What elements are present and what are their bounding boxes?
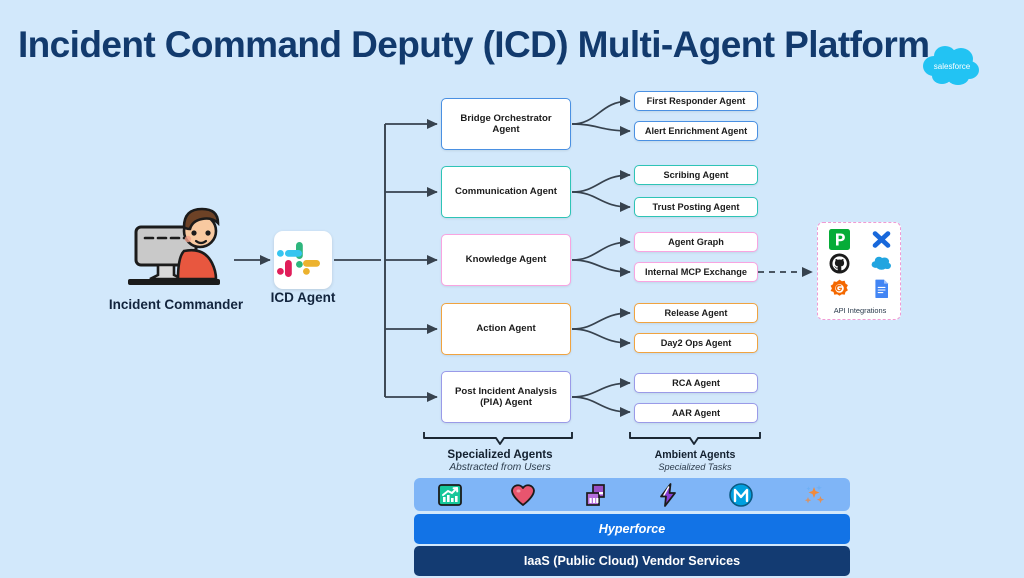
ambient-agent-scribing[interactable]: Scribing Agent [634, 165, 758, 185]
github-icon [829, 253, 850, 274]
layer-label: Hyperforce [599, 522, 666, 536]
node-label: Internal MCP Exchange [645, 267, 747, 278]
ambient-agent-internal-mcp-exchange[interactable]: Internal MCP Exchange [634, 262, 758, 282]
node-label: First Responder Agent [647, 96, 746, 107]
mulesoft-m-icon [728, 482, 754, 508]
jira-icon [871, 229, 892, 250]
chart-trend-icon [437, 482, 463, 508]
ambient-agent-aar[interactable]: AAR Agent [634, 403, 758, 423]
node-label: Alert Enrichment Agent [645, 126, 747, 137]
ambient-agent-trust-posting[interactable]: Trust Posting Agent [634, 197, 758, 217]
google-docs-icon [871, 278, 892, 299]
ambient-agent-rca[interactable]: RCA Agent [634, 373, 758, 393]
node-label: Scribing Agent [664, 170, 729, 181]
ambient-agent-release[interactable]: Release Agent [634, 303, 758, 323]
incident-commander-label: Incident Commander [90, 297, 262, 312]
pagerduty-icon [829, 229, 850, 250]
node-label: Post Incident Analysis (PIA) Agent [447, 386, 565, 409]
node-label: RCA Agent [672, 378, 720, 389]
specialized-agent-action[interactable]: Action Agent [441, 303, 571, 355]
diagram-canvas: Incident Command Deputy (ICD) Multi-Agen… [0, 0, 1024, 578]
node-label: Knowledge Agent [466, 254, 547, 265]
person-at-computer-icon [122, 205, 230, 293]
buildings-icon [583, 482, 609, 508]
node-label: Communication Agent [455, 186, 557, 197]
node-label: Day2 Ops Agent [661, 338, 732, 349]
bracket-title-ambient: Ambient Agents [625, 449, 765, 461]
platform-icon-strip [414, 478, 850, 511]
node-label: Bridge Orchestrator Agent [447, 113, 565, 136]
node-label: Release Agent [665, 308, 728, 319]
specialized-agent-bridge-orchestrator[interactable]: Bridge Orchestrator Agent [441, 98, 571, 150]
specialized-agent-pia[interactable]: Post Incident Analysis (PIA) Agent [441, 371, 571, 423]
node-label: Action Agent [476, 323, 535, 334]
ambient-agent-first-responder[interactable]: First Responder Agent [634, 91, 758, 111]
specialized-agent-communication[interactable]: Communication Agent [441, 166, 571, 218]
heart-icon [510, 482, 536, 508]
api-integrations-box[interactable]: API Integrations [817, 222, 901, 320]
bracket-subtitle-ambient: Specialized Tasks [625, 462, 765, 472]
icd-agent-label: ICD Agent [245, 290, 361, 305]
api-integrations-label: API Integrations [818, 306, 902, 315]
platform-layer-hyperforce: Hyperforce [414, 514, 850, 544]
ambient-agent-day2-ops[interactable]: Day2 Ops Agent [634, 333, 758, 353]
lightning-bolt-icon [655, 482, 681, 508]
slack-logo-icon [274, 231, 332, 289]
bracket-title-specialized: Specialized Agents [420, 448, 580, 461]
ambient-agent-alert-enrichment[interactable]: Alert Enrichment Agent [634, 121, 758, 141]
node-label: Agent Graph [668, 237, 724, 248]
sparkles-icon [801, 482, 827, 508]
layer-label: IaaS (Public Cloud) Vendor Services [524, 554, 740, 568]
node-label: AAR Agent [672, 408, 720, 419]
grafana-icon [829, 278, 850, 299]
bracket-subtitle-specialized: Abstracted from Users [420, 462, 580, 473]
specialized-agent-knowledge[interactable]: Knowledge Agent [441, 234, 571, 286]
platform-layer-iaas: IaaS (Public Cloud) Vendor Services [414, 546, 850, 576]
ambient-agent-agent-graph[interactable]: Agent Graph [634, 232, 758, 252]
node-label: Trust Posting Agent [653, 202, 740, 213]
salesforce-cloud-icon [871, 253, 892, 274]
